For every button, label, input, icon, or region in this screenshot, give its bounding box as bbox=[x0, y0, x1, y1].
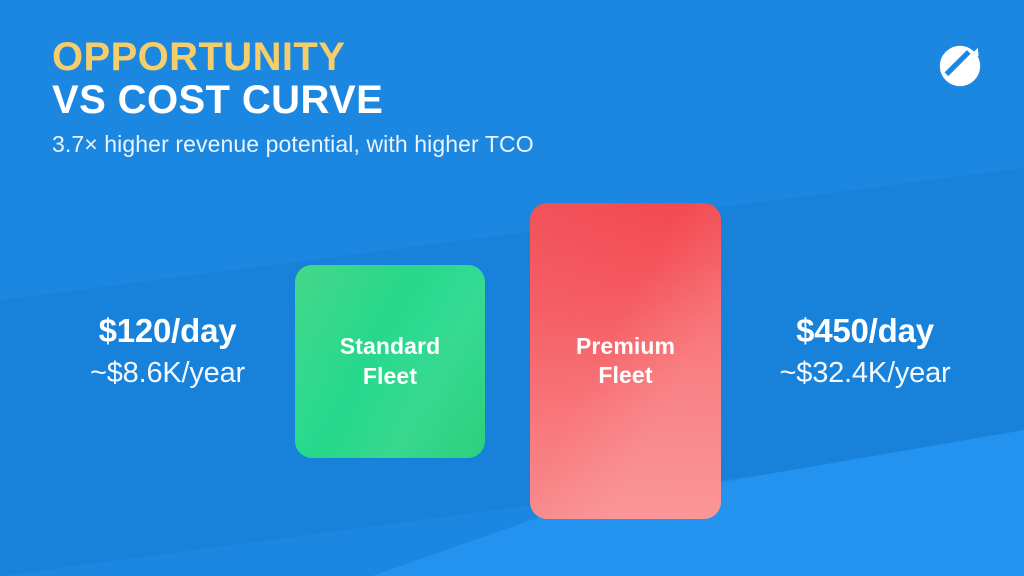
stat-callout-premium-fleet: $450/day ~$32.4K/year bbox=[730, 313, 1000, 389]
page-title-line-2: VS COST CURVE bbox=[52, 79, 534, 122]
stat-standard-daily-cost: $120/day bbox=[40, 313, 295, 350]
bar-premium-fleet[interactable]: Premium Fleet bbox=[530, 203, 721, 519]
stat-premium-daily-cost: $450/day bbox=[730, 313, 1000, 350]
bar-standard-fleet-label: Standard Fleet bbox=[340, 332, 440, 391]
page-title-line-1: OPPORTUNITY bbox=[52, 36, 534, 79]
circle-diagonal-arrow-logo-icon bbox=[939, 45, 981, 87]
page-subtitle: 3.7× higher revenue potential, with high… bbox=[52, 131, 534, 158]
slide-canvas: OPPORTUNITY VS COST CURVE 3.7× higher re… bbox=[0, 0, 1024, 576]
bar-premium-fleet-label: Premium Fleet bbox=[576, 332, 675, 391]
slide-header: OPPORTUNITY VS COST CURVE 3.7× higher re… bbox=[52, 36, 534, 158]
bar-label-line-1: Standard bbox=[340, 333, 440, 359]
stat-callout-standard-fleet: $120/day ~$8.6K/year bbox=[40, 313, 295, 389]
stat-standard-annual-cost: ~$8.6K/year bbox=[40, 357, 295, 389]
bar-label-line-2: Fleet bbox=[598, 362, 652, 388]
bar-standard-fleet[interactable]: Standard Fleet bbox=[295, 265, 485, 458]
bar-label-line-1: Premium bbox=[576, 333, 675, 359]
bar-label-line-2: Fleet bbox=[363, 363, 417, 389]
stat-premium-annual-cost: ~$32.4K/year bbox=[730, 357, 1000, 389]
